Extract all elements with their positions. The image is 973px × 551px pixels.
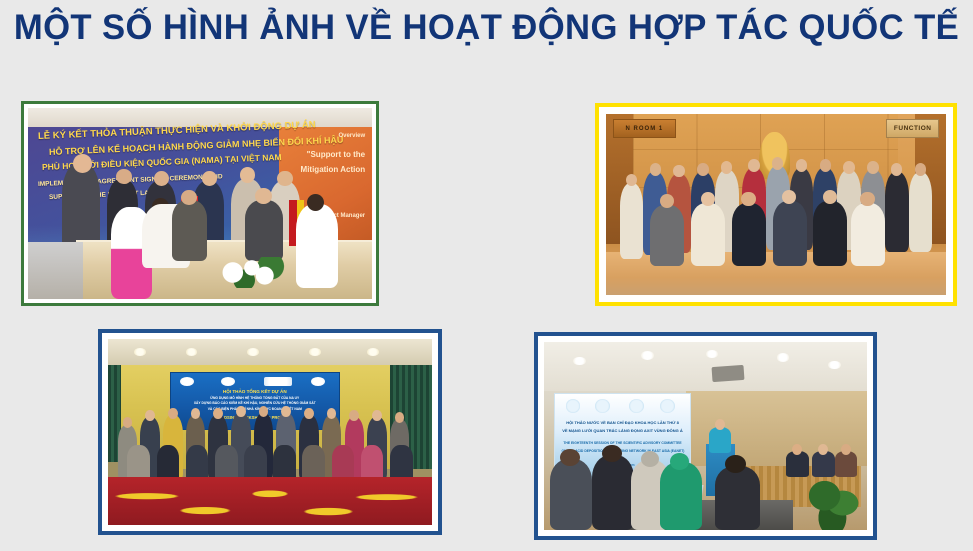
ceiling-light-icon [247,348,259,355]
person-head [168,408,178,419]
speaker-at-podium [709,427,732,453]
person-head [796,159,808,172]
person-seated [732,203,766,266]
person-head [307,194,324,211]
person-head [725,455,746,473]
ceiling-light-icon [134,348,146,355]
ceiling-light-icon [641,351,654,359]
banner-line-4: ON THE ACID DEPOSITION MONITORING NETWOR… [561,449,683,453]
photo-frame-workshop-closing[interactable]: HỘI THẢO TỔNG KẾT DỰ ÁN ỨNG DỤNG MÔ HÌNH… [98,329,442,535]
logo-icon [595,399,610,413]
person-head [372,410,382,421]
person-silhouette [296,204,337,288]
person-silhouette [550,459,592,530]
person-silhouette [592,455,634,530]
person-head [701,192,715,206]
person-silhouette [245,200,283,261]
page-title: MỘT SỐ HÌNH ẢNH VỀ HOẠT ĐỘNG HỢP TÁC QUỐ… [5,8,968,48]
person-seated [813,201,847,266]
person-seated [786,451,809,477]
photo-frame-signing-ceremony[interactable]: LỄ KÝ KẾT THỎA THUẬN THỰC HIỆN VÀ KHỞI Đ… [21,101,379,306]
ceiling-light-icon [777,353,790,361]
person-seated [773,201,807,266]
floor [28,242,83,299]
person-head [915,163,927,176]
photo-workshop-closing: HỘI THẢO TỔNG KẾT DỰ ÁN ỨNG DỤNG MÔ HÌNH… [108,339,432,525]
banner-line-2: ỨNG DỤNG MÔ HÌNH HỆ THỐNG TỔNG ĐẤT CỦA N… [177,396,332,400]
person-head [255,188,272,204]
person-silhouette [885,172,909,252]
person-head [820,159,832,172]
person-seated [835,451,858,477]
person-head [154,171,169,186]
ceiling [544,342,867,391]
photo-signing-ceremony: LỄ KÝ KẾT THỎA THUẬN THỰC HIỆN VÀ KHỞI Đ… [28,108,372,299]
ceiling-light-icon [309,348,321,355]
person-head [891,163,903,176]
photo-advisory-committee: HỘI THẢO NƯỚC VỀ BAN CHỈ ĐẠO KHOA HỌC LẦ… [544,342,867,530]
person-head [867,161,879,174]
person-head [860,192,874,206]
person-head [277,171,292,186]
banner-line-2: VỀ MẠNG LƯỚI QUAN TRẮC LẮNG ĐỌNG AXIT VÙ… [561,428,683,433]
potted-plant [809,481,861,530]
person-head [602,445,621,462]
person-head [741,192,755,206]
logo-icon [629,399,644,413]
person-head [818,444,828,455]
person-head [650,163,662,176]
person-silhouette [660,462,702,530]
person-head [673,165,685,178]
logo-icon [221,377,235,386]
person-head [236,406,246,417]
person-head [670,453,689,470]
ceiling-light-icon [706,350,719,358]
logo-icon [180,377,194,386]
person-seated [650,205,684,267]
person-head [395,412,405,423]
logo-icon [311,377,325,386]
banner-line-1: HỘI THẢO NƯỚC VỀ BAN CHỈ ĐẠO KHOA HỌC LẦ… [561,420,683,425]
photo-frame-advisory-committee[interactable]: HỘI THẢO NƯỚC VỀ BAN CHỈ ĐẠO KHOA HỌC LẦ… [534,332,877,540]
person-silhouette [620,183,644,259]
banner-right-line-3: Mitigation Action [301,165,366,174]
person-head [202,171,217,186]
person-seated [812,451,835,477]
person-head [748,159,760,172]
room-sign-left: N ROOM 1 [613,119,676,137]
person-head [73,154,92,173]
photo-frame-group-delegation[interactable]: N ROOM 1 FUNCTION [595,103,957,306]
banner-line-1: HỘI THẢO TỔNG KẾT DỰ ÁN [177,389,332,394]
photo-group-delegation: N ROOM 1 FUNCTION [606,114,946,295]
person-silhouette [715,466,760,530]
logo-icon [264,377,292,386]
person-head [660,194,674,208]
person-head [560,449,579,466]
room-sign-right: FUNCTION [886,119,939,137]
projector-icon [711,365,744,382]
person-head [697,163,709,176]
person-head [349,410,359,421]
person-head [304,408,314,419]
banner-line-3: THE EIGHTEENTH SESSION OF THE SCIENTIFIC… [561,441,683,445]
banner-right-line-2: "Support to the [307,150,365,159]
flower-arrangement [210,257,286,288]
logo-icon [566,399,581,413]
person-head [843,161,855,174]
logo-icon [660,399,675,413]
person-silhouette [172,200,206,261]
person-seated [851,203,885,266]
banner-right-line-1: Overview [338,133,365,139]
person-seated [691,203,725,266]
person-head [145,410,155,421]
ceiling-light-icon [186,348,198,355]
person-head [841,444,851,455]
person-head [721,161,733,174]
person-head [641,451,659,467]
person-head [715,419,725,430]
ceiling-light-icon [367,348,379,355]
banner-logos [177,377,332,386]
person-silhouette [909,172,933,252]
banner-line-3: XÂY DỰNG BÁO CÁO KIỂM KÊ KHÍ HẬU, NGHIÊN… [177,401,332,405]
red-carpet [108,477,432,525]
person-head [213,408,223,419]
person-head [116,169,132,184]
